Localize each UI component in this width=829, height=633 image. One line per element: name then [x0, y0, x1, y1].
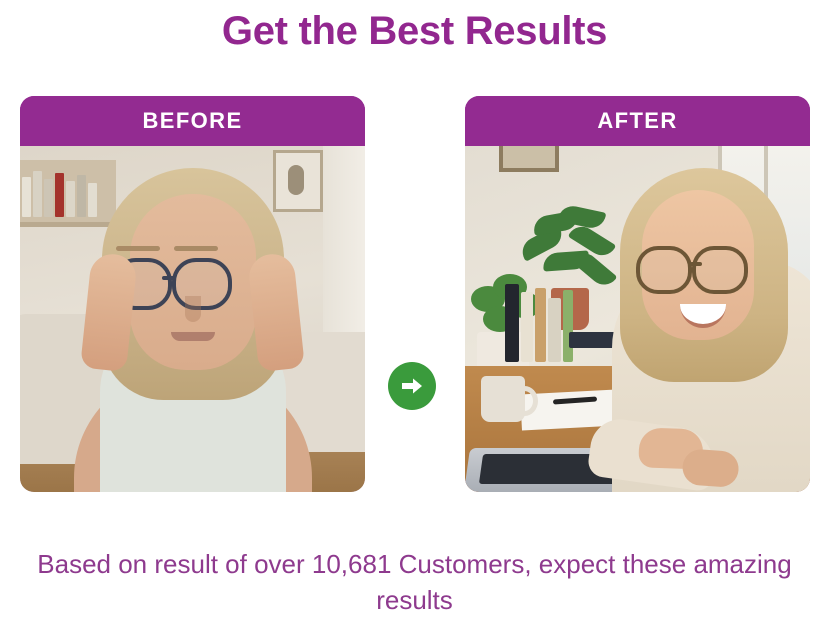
- book: [66, 181, 75, 217]
- eyeglass-lens-right: [172, 258, 232, 310]
- book: [521, 292, 533, 362]
- arrow-right-icon: [388, 362, 436, 410]
- wall-picture-frame: [499, 146, 559, 172]
- person-nose: [185, 296, 201, 322]
- before-scene-illustration: [20, 146, 365, 492]
- eyebrow-left: [116, 246, 160, 251]
- coffee-mug: [481, 376, 525, 422]
- after-scene-illustration: [465, 146, 810, 492]
- book: [55, 173, 64, 217]
- book: [505, 284, 519, 362]
- wall-picture-frame: [273, 150, 323, 212]
- book: [88, 183, 97, 217]
- after-photo: [465, 146, 810, 492]
- eyeglass-lens-left: [636, 246, 692, 294]
- bookshelf: [20, 160, 116, 227]
- eyeglass-bridge: [162, 276, 176, 280]
- book: [535, 288, 546, 362]
- person-mouth: [171, 332, 215, 341]
- after-panel: AFTER: [465, 96, 810, 492]
- before-panel: BEFORE: [20, 96, 365, 492]
- book: [22, 177, 31, 217]
- book: [44, 179, 53, 217]
- book-stack: [505, 272, 625, 362]
- book: [33, 171, 42, 217]
- before-after-comparison: BEFORE: [0, 96, 829, 496]
- book: [77, 175, 86, 217]
- eyebrow-right: [174, 246, 218, 251]
- eyeglass-bridge: [690, 262, 702, 266]
- eyeglass-lens-right: [692, 246, 748, 294]
- results-caption: Based on result of over 10,681 Customers…: [30, 546, 799, 618]
- before-photo: [20, 146, 365, 492]
- hand-right: [681, 448, 739, 488]
- book: [563, 290, 573, 362]
- after-label: AFTER: [465, 96, 810, 146]
- page-title: Get the Best Results: [0, 6, 829, 56]
- before-label: BEFORE: [20, 96, 365, 146]
- book: [548, 298, 561, 362]
- caption-line-1: Based on result of over 10,681 Customers…: [37, 549, 686, 579]
